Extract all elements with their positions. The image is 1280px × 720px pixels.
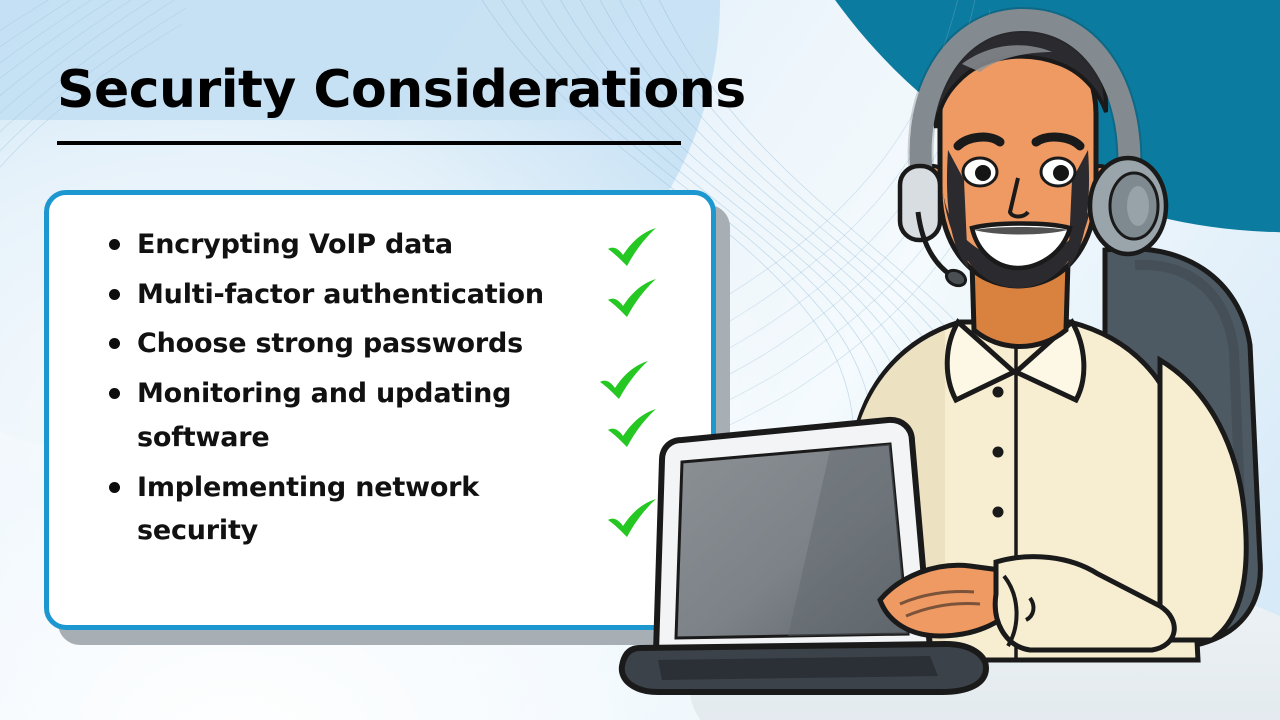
bullet-point-icon	[109, 482, 120, 493]
title-underline-rule	[57, 141, 681, 145]
list-item: Monitoring and updating software	[109, 372, 669, 459]
laptop-keyboard	[658, 656, 938, 680]
list-item: Implementing network security	[109, 466, 669, 553]
bullet-point-icon	[109, 338, 120, 349]
bullet-point-icon	[109, 289, 120, 300]
list-item-label: Choose strong passwords	[137, 322, 523, 366]
list-item: Encrypting VoIP data	[109, 223, 669, 267]
bullet-point-icon	[109, 388, 120, 399]
list-item-label: Monitoring and updating software	[137, 372, 557, 459]
list-item: Multi-factor authentication	[109, 273, 669, 317]
list-item-label: Encrypting VoIP data	[137, 223, 453, 267]
list-item-label: Multi-factor authentication	[137, 273, 544, 317]
illustration-call-center-agent	[600, 0, 1280, 720]
agent-illustration-svg	[600, 0, 1280, 720]
bullet-point-icon	[109, 239, 120, 250]
slide-canvas: Security Considerations Encrypting VoIP …	[0, 0, 1280, 720]
security-checklist: Encrypting VoIP data Multi-factor authen…	[109, 223, 669, 559]
list-item: Choose strong passwords	[109, 322, 669, 366]
list-item-label: Implementing network security	[137, 466, 557, 553]
